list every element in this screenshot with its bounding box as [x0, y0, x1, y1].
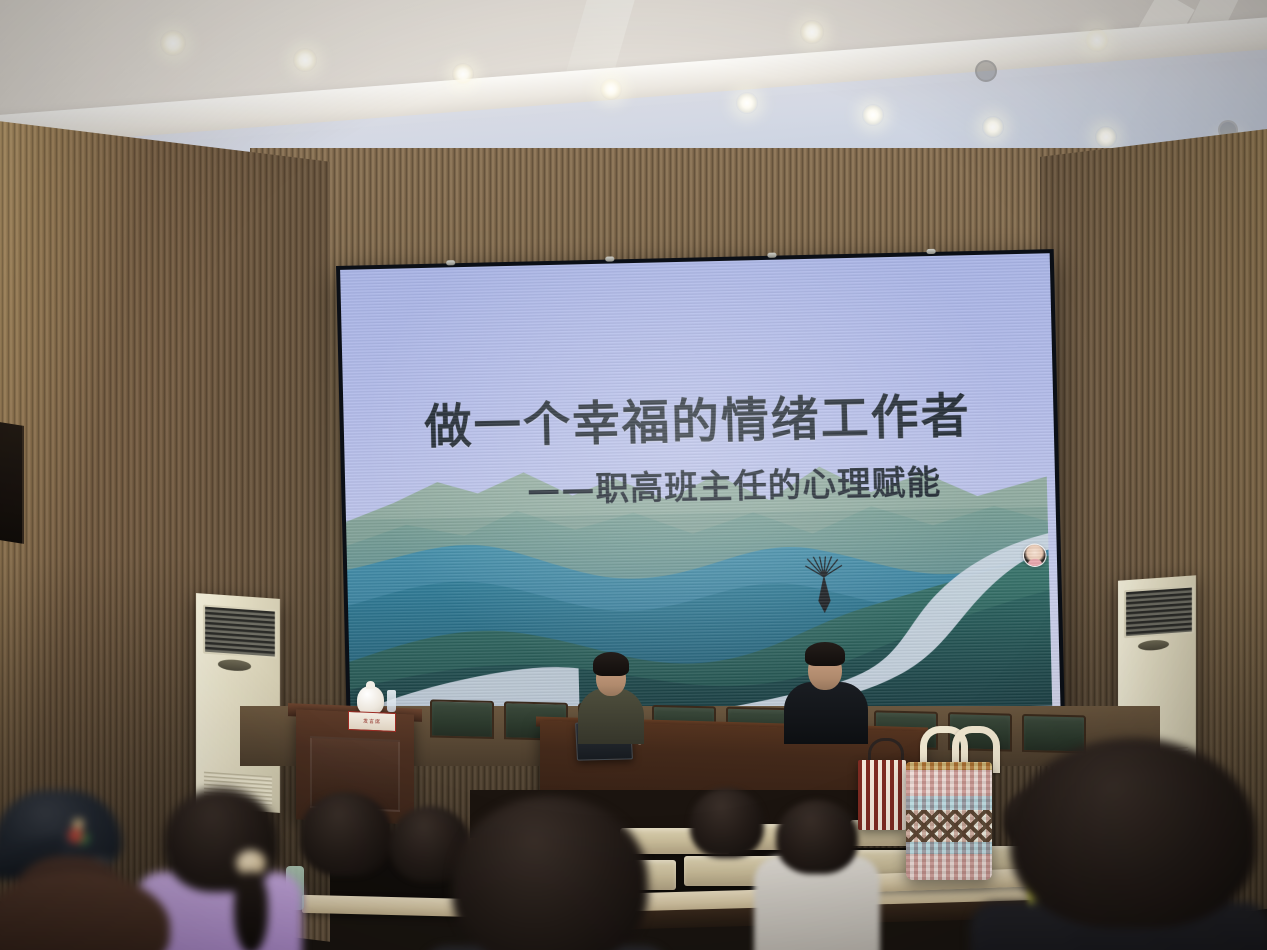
- person-hair: [1010, 738, 1256, 928]
- person-hair: [452, 796, 648, 950]
- ponytail: [234, 872, 268, 950]
- cap-graphic-icon: [62, 816, 96, 852]
- audience-foreground: Disney Colle Tokyo: [0, 0, 1267, 950]
- lecture-hall-photo: 做一个幸福的情绪工作者 ——职高班主任的心理赋能: [0, 0, 1267, 950]
